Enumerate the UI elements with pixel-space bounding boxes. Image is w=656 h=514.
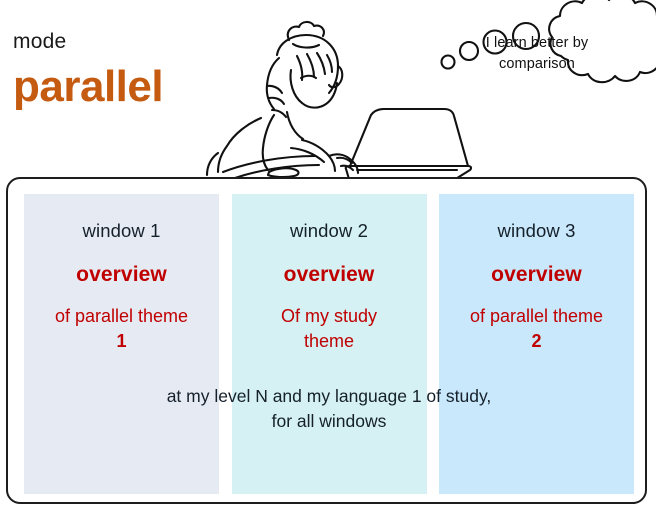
- window-panel-2[interactable]: window 2 overview Of my study theme: [232, 194, 427, 494]
- window-heading: overview: [439, 264, 634, 285]
- window-heading: overview: [232, 264, 427, 285]
- thought-bubble-text: I learn better by comparison: [472, 33, 602, 76]
- window-title: window 1: [24, 222, 219, 241]
- windows-row: window 1 overview of parallel theme 1 wi…: [24, 194, 634, 494]
- window-title: window 2: [232, 222, 427, 241]
- window-subtitle: Of my study theme: [232, 304, 427, 354]
- window-panel-3[interactable]: window 3 overview of parallel theme 2: [439, 194, 634, 494]
- window-subtitle-number: 2: [439, 329, 634, 354]
- window-subtitle: of parallel theme: [24, 304, 219, 329]
- header: mode parallel: [0, 0, 656, 178]
- window-panel-1[interactable]: window 1 overview of parallel theme 1: [24, 194, 219, 494]
- mode-value: parallel: [13, 64, 163, 110]
- mode-label: mode: [13, 31, 66, 52]
- window-title: window 3: [439, 222, 634, 241]
- person-at-laptop-illustration: [205, 0, 656, 178]
- window-heading: overview: [24, 264, 219, 285]
- window-subtitle-number: 1: [24, 329, 219, 354]
- window-subtitle: of parallel theme: [439, 304, 634, 329]
- windows-frame: window 1 overview of parallel theme 1 wi…: [6, 177, 647, 504]
